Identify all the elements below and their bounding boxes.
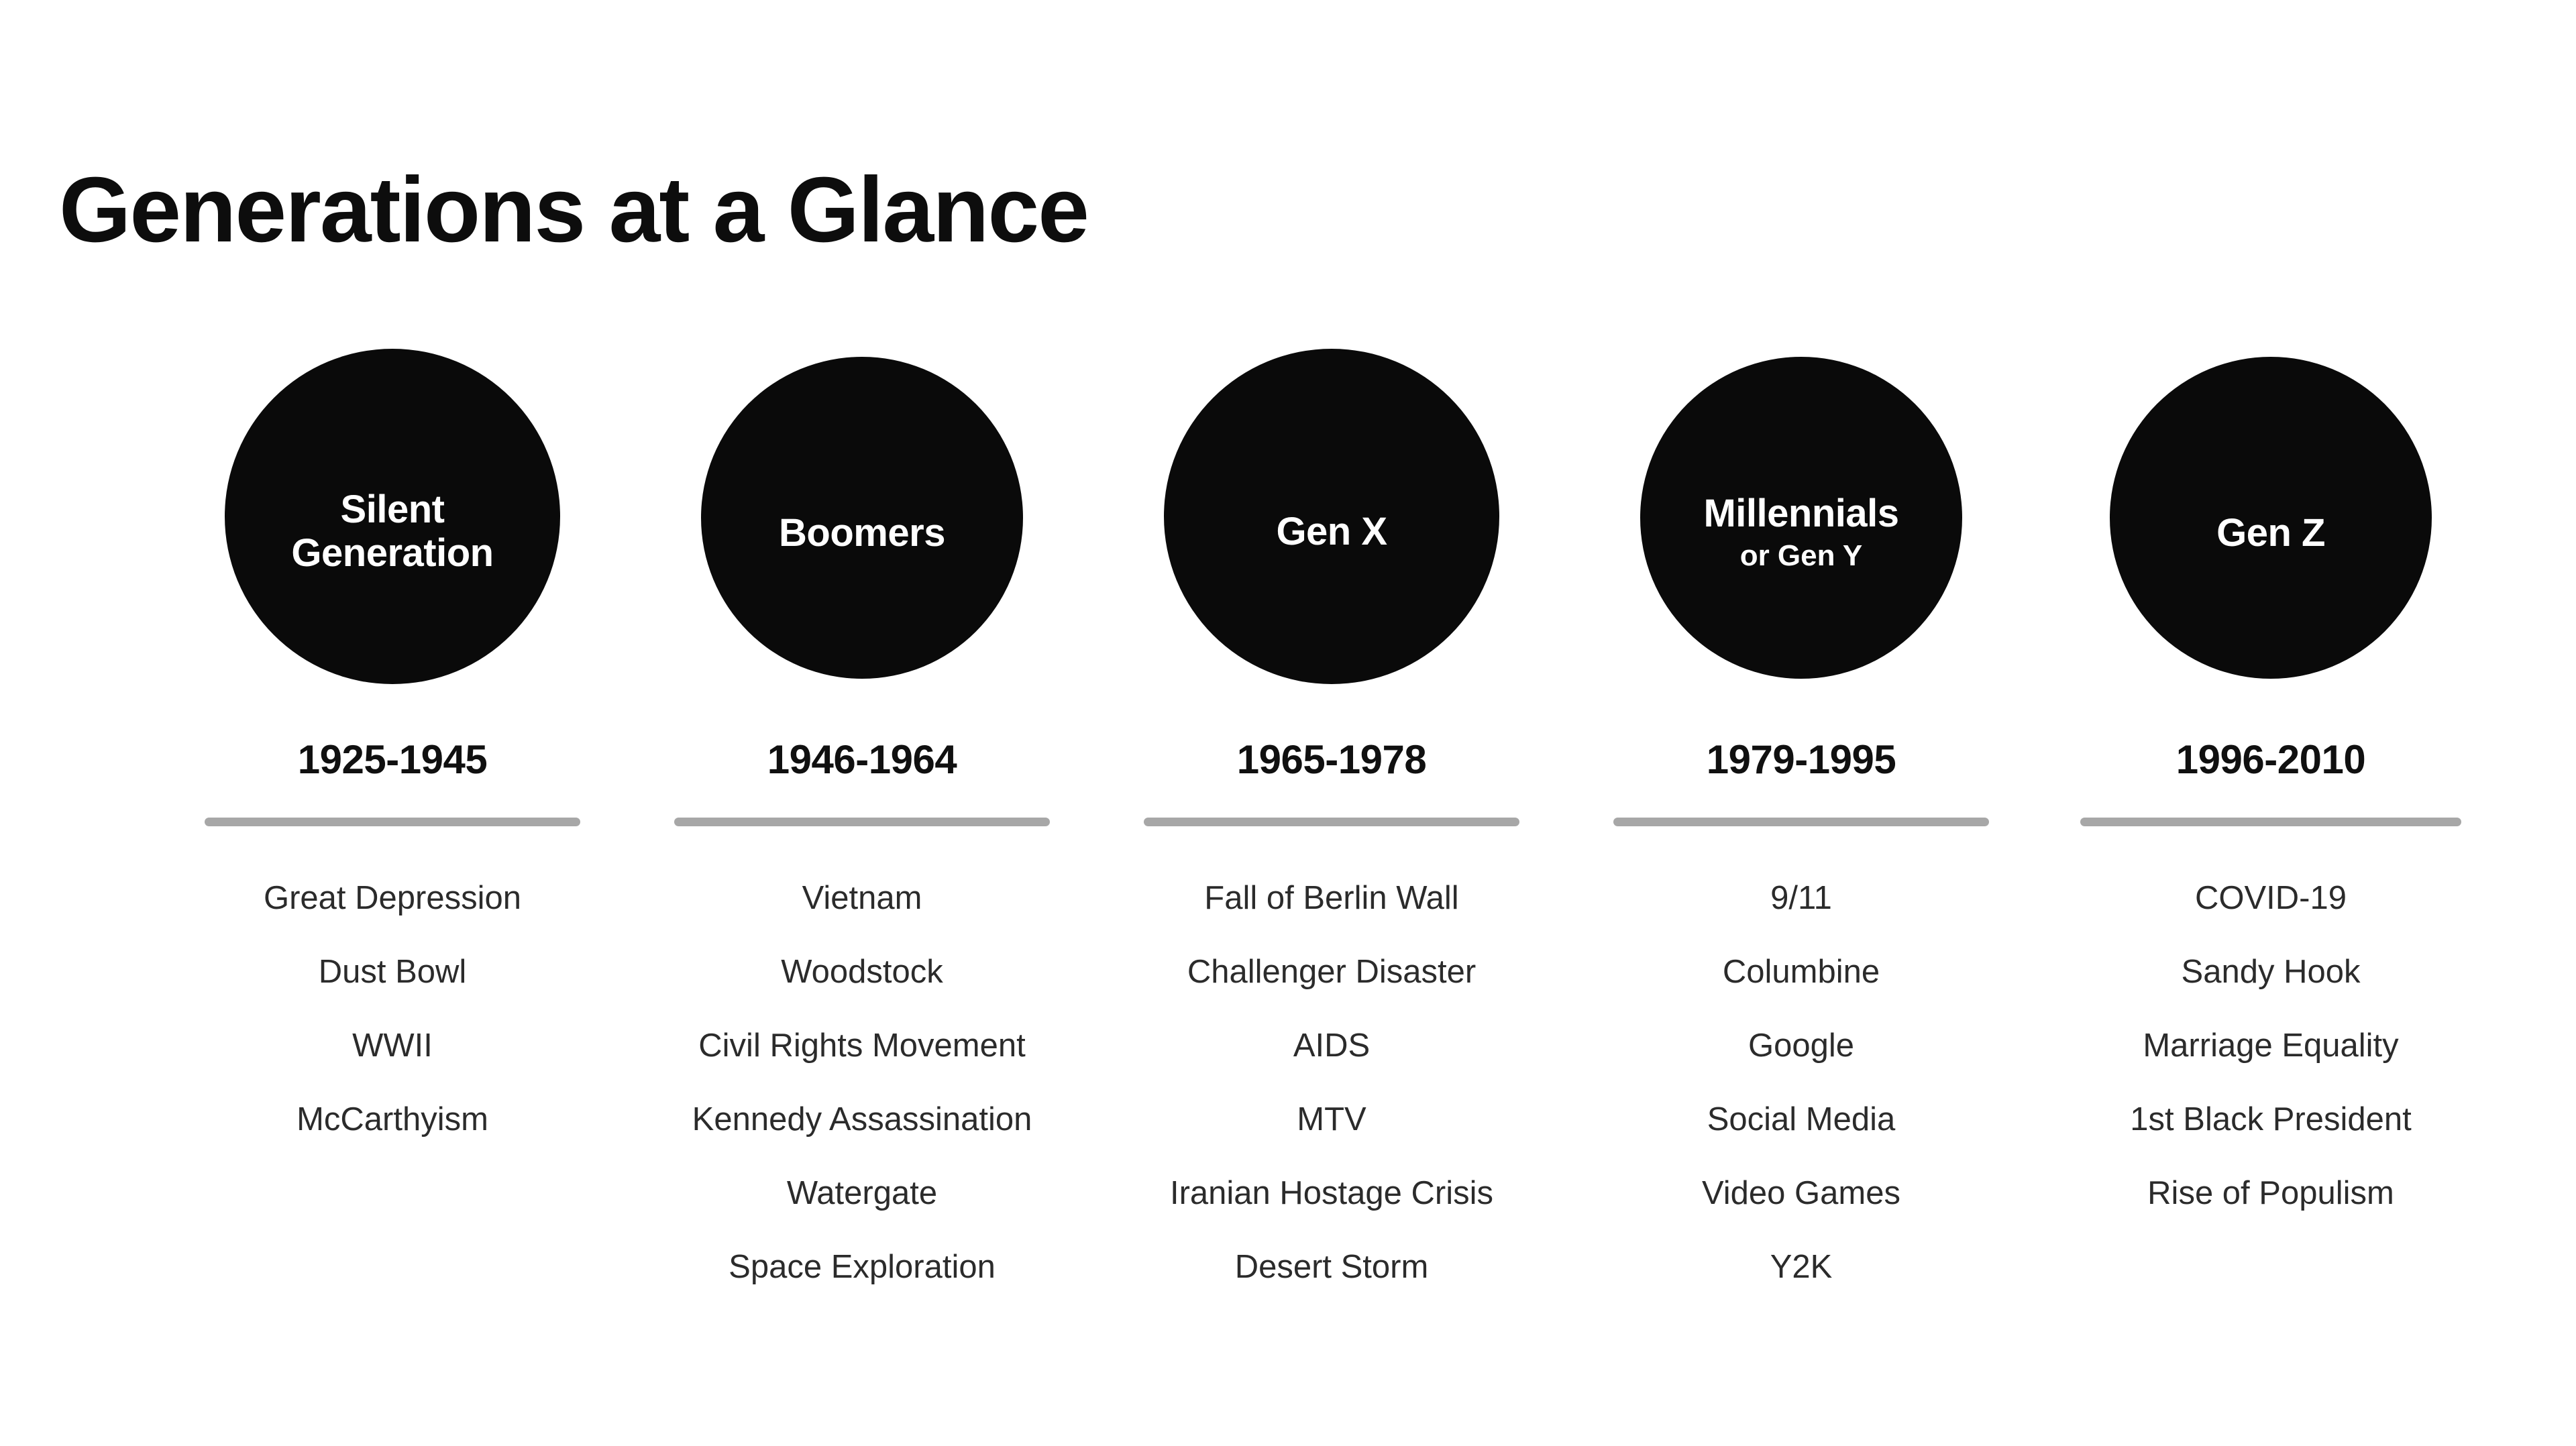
generation-years: 1996-2010 (2176, 736, 2365, 783)
list-item: Google (1748, 1009, 1854, 1082)
list-item: Kennedy Assassination (692, 1082, 1032, 1156)
list-item: Marriage Equality (2143, 1009, 2398, 1082)
circle-wrap: Millennials or Gen Y (1640, 349, 1962, 698)
list-item: Rise of Populism (2147, 1156, 2394, 1230)
generation-column-boomers: Boomers 1946-1964 Vietnam Woodstock Civi… (627, 349, 1097, 1304)
generation-circle-millennials: Millennials or Gen Y (1640, 357, 1962, 679)
generation-name: Millennials (1703, 492, 1898, 536)
list-item: Watergate (787, 1156, 937, 1230)
circle-wrap: Silent Generation (225, 349, 560, 698)
list-item: Iranian Hostage Crisis (1170, 1156, 1493, 1230)
list-item: COVID-19 (2195, 861, 2347, 935)
list-item: Great Depression (264, 861, 521, 935)
generation-circle-boomers: Boomers (701, 357, 1023, 679)
list-item: McCarthyism (297, 1082, 488, 1156)
generation-years: 1979-1995 (1707, 736, 1896, 783)
generation-circle-gen-z: Gen Z (2110, 357, 2432, 679)
list-item: Challenger Disaster (1187, 935, 1476, 1009)
generation-name: Silent Generation (291, 488, 493, 575)
generation-name: Gen Z (2216, 512, 2325, 555)
list-item: Dust Bowl (319, 935, 467, 1009)
divider-rule (1144, 818, 1519, 826)
list-item: Vietnam (802, 861, 922, 935)
event-list: Great Depression Dust Bowl WWII McCarthy… (158, 861, 627, 1156)
divider-rule (205, 818, 580, 826)
circle-wrap: Boomers (701, 349, 1023, 698)
generation-years: 1925-1945 (298, 736, 487, 783)
circle-wrap: Gen X (1164, 349, 1499, 698)
list-item: Fall of Berlin Wall (1204, 861, 1458, 935)
list-item: Space Exploration (729, 1230, 996, 1304)
page-title: Generations at a Glance (59, 164, 1088, 256)
generation-column-gen-z: Gen Z 1996-2010 COVID-19 Sandy Hook Marr… (2036, 349, 2506, 1230)
list-item: Civil Rights Movement (698, 1009, 1025, 1082)
generation-name: Boomers (779, 512, 945, 555)
generation-column-silent-generation: Silent Generation 1925-1945 Great Depres… (158, 349, 627, 1156)
circle-wrap: Gen Z (2110, 349, 2432, 698)
event-list: Fall of Berlin Wall Challenger Disaster … (1097, 861, 1566, 1304)
list-item: Desert Storm (1235, 1230, 1429, 1304)
list-item: MTV (1297, 1082, 1366, 1156)
generation-name: Gen X (1276, 510, 1387, 554)
generation-years: 1965-1978 (1237, 736, 1426, 783)
generation-circle-gen-x: Gen X (1164, 349, 1499, 684)
list-item: Y2K (1770, 1230, 1833, 1304)
divider-rule (674, 818, 1050, 826)
generation-years: 1946-1964 (767, 736, 957, 783)
event-list: COVID-19 Sandy Hook Marriage Equality 1s… (2036, 861, 2506, 1230)
generation-column-gen-x: Gen X 1965-1978 Fall of Berlin Wall Chal… (1097, 349, 1566, 1304)
divider-rule (1613, 818, 1989, 826)
generation-column-millennials: Millennials or Gen Y 1979-1995 9/11 Colu… (1566, 349, 2036, 1304)
list-item: 1st Black President (2130, 1082, 2411, 1156)
event-list: 9/11 Columbine Google Social Media Video… (1566, 861, 2036, 1304)
divider-rule (2080, 818, 2461, 826)
generation-subname: or Gen Y (1740, 539, 1863, 574)
list-item: WWII (352, 1009, 433, 1082)
generations-grid: Silent Generation 1925-1945 Great Depres… (0, 349, 2576, 1304)
list-item: Video Games (1702, 1156, 1900, 1230)
generation-circle-silent-generation: Silent Generation (225, 349, 560, 684)
list-item: Social Media (1707, 1082, 1896, 1156)
list-item: 9/11 (1770, 861, 1832, 935)
list-item: Sandy Hook (2182, 935, 2361, 1009)
list-item: Columbine (1723, 935, 1880, 1009)
event-list: Vietnam Woodstock Civil Rights Movement … (627, 861, 1097, 1304)
list-item: AIDS (1293, 1009, 1370, 1082)
list-item: Woodstock (781, 935, 943, 1009)
